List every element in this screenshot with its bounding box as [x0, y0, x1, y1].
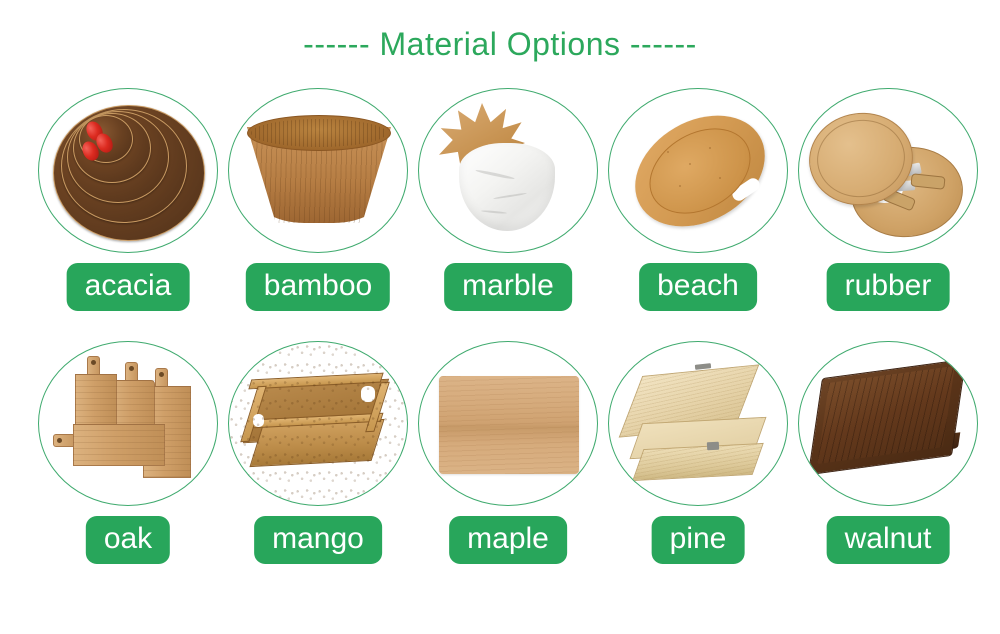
material-card-rubber[interactable]: rubber	[793, 88, 983, 341]
material-image-frame-acacia	[38, 88, 218, 253]
page-title: ------ Material Options ------	[0, 26, 1000, 63]
material-card-acacia[interactable]: acacia	[33, 88, 223, 341]
material-card-walnut[interactable]: walnut	[793, 341, 983, 594]
beach-oval-tray-image	[609, 89, 787, 252]
marble-pineapple-board-image	[419, 89, 597, 252]
material-image-frame-walnut	[798, 341, 978, 506]
material-label-pine[interactable]: pine	[652, 516, 745, 564]
material-image-frame-beach	[608, 88, 788, 253]
material-image-frame-oak	[38, 341, 218, 506]
material-label-mango[interactable]: mango	[254, 516, 382, 564]
material-label-oak[interactable]: oak	[86, 516, 170, 564]
rubber-cheese-board-image	[799, 89, 977, 252]
material-card-mango[interactable]: mango	[223, 341, 413, 594]
material-label-rubber[interactable]: rubber	[827, 263, 950, 311]
material-image-frame-rubber	[798, 88, 978, 253]
material-card-oak[interactable]: oak	[33, 341, 223, 594]
material-options-page: ------ Material Options ------	[0, 0, 1000, 634]
pine-box-image	[609, 342, 787, 505]
material-label-marble[interactable]: marble	[444, 263, 572, 311]
oak-paddle-boards-image	[39, 342, 217, 505]
material-image-frame-pine	[608, 341, 788, 506]
material-card-maple[interactable]: maple	[413, 341, 603, 594]
material-row-2: oak mango	[0, 341, 1000, 594]
material-image-frame-bamboo	[228, 88, 408, 253]
material-image-frame-maple	[418, 341, 598, 506]
material-label-beach[interactable]: beach	[639, 263, 757, 311]
material-card-pine[interactable]: pine	[603, 341, 793, 594]
material-label-walnut[interactable]: walnut	[827, 516, 950, 564]
material-label-bamboo[interactable]: bamboo	[246, 263, 390, 311]
material-card-marble[interactable]: marble	[413, 88, 603, 341]
mango-tray-image	[229, 342, 407, 505]
material-grid: acacia bamboo	[0, 88, 1000, 594]
maple-board-image	[419, 342, 597, 505]
material-label-maple[interactable]: maple	[449, 516, 567, 564]
material-image-frame-mango	[228, 341, 408, 506]
material-image-frame-marble	[418, 88, 598, 253]
material-row-1: acacia bamboo	[0, 88, 1000, 341]
material-card-beach[interactable]: beach	[603, 88, 793, 341]
walnut-board-image	[799, 342, 977, 505]
bamboo-bowl-image	[229, 89, 407, 252]
material-card-bamboo[interactable]: bamboo	[223, 88, 413, 341]
acacia-plates-image	[39, 89, 217, 252]
material-label-acacia[interactable]: acacia	[67, 263, 190, 311]
